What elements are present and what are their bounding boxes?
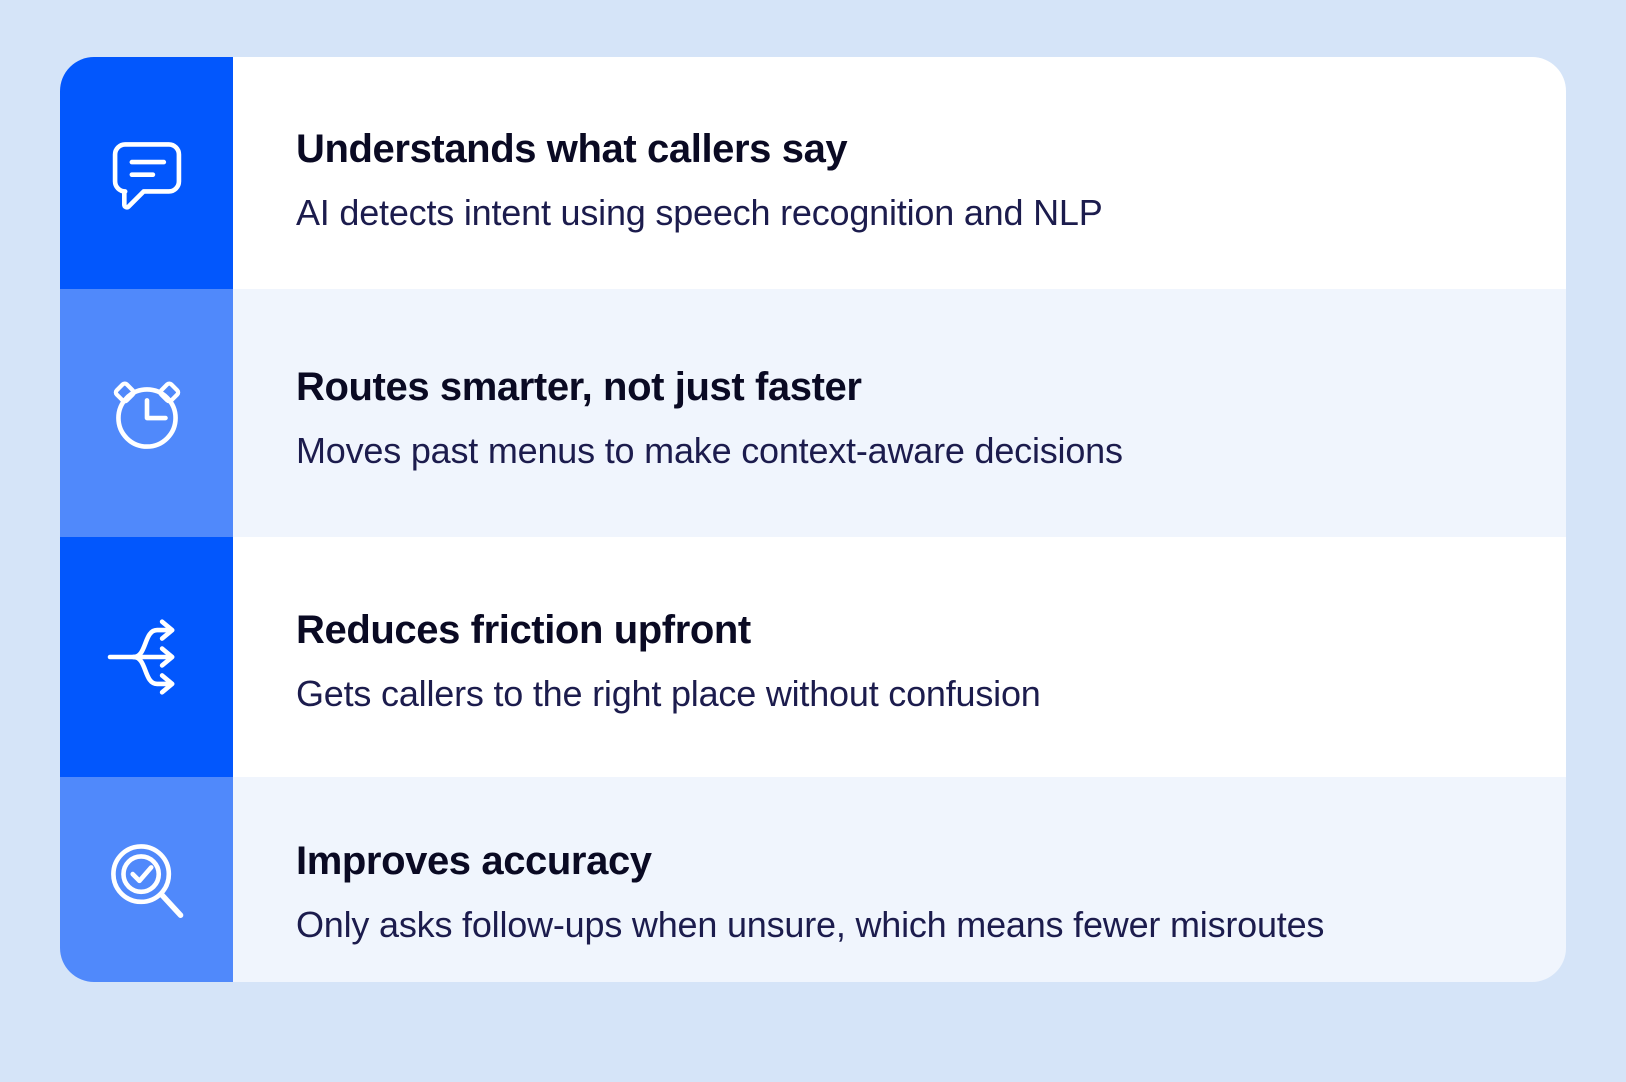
row-subtitle: Only asks follow-ups when unsure, which …: [296, 903, 1526, 946]
speech-bubble-icon: [105, 131, 189, 215]
row-content: Improves accuracy Only asks follow-ups w…: [233, 777, 1566, 982]
feature-row: Improves accuracy Only asks follow-ups w…: [60, 777, 1566, 982]
feature-row: Understands what callers say AI detects …: [60, 57, 1566, 289]
feature-row: Reduces friction upfront Gets callers to…: [60, 537, 1566, 777]
alarm-clock-icon: [105, 371, 189, 455]
row-content: Reduces friction upfront Gets callers to…: [233, 537, 1566, 777]
row-title: Improves accuracy: [296, 838, 1526, 884]
row-subtitle: Gets callers to the right place without …: [296, 672, 1526, 715]
magnifier-check-icon: [105, 838, 189, 922]
feature-list-card: Understands what callers say AI detects …: [60, 57, 1566, 982]
icon-panel: [60, 777, 233, 982]
icon-panel: [60, 537, 233, 777]
row-subtitle: AI detects intent using speech recogniti…: [296, 191, 1526, 234]
row-content: Understands what callers say AI detects …: [233, 57, 1566, 289]
split-routes-icon: [105, 615, 189, 699]
row-title: Reduces friction upfront: [296, 607, 1526, 653]
icon-panel: [60, 57, 233, 289]
row-content: Routes smarter, not just faster Moves pa…: [233, 289, 1566, 537]
row-subtitle: Moves past menus to make context-aware d…: [296, 429, 1526, 472]
feature-row: Routes smarter, not just faster Moves pa…: [60, 289, 1566, 537]
icon-panel: [60, 289, 233, 537]
row-title: Understands what callers say: [296, 126, 1526, 172]
row-title: Routes smarter, not just faster: [296, 364, 1526, 410]
